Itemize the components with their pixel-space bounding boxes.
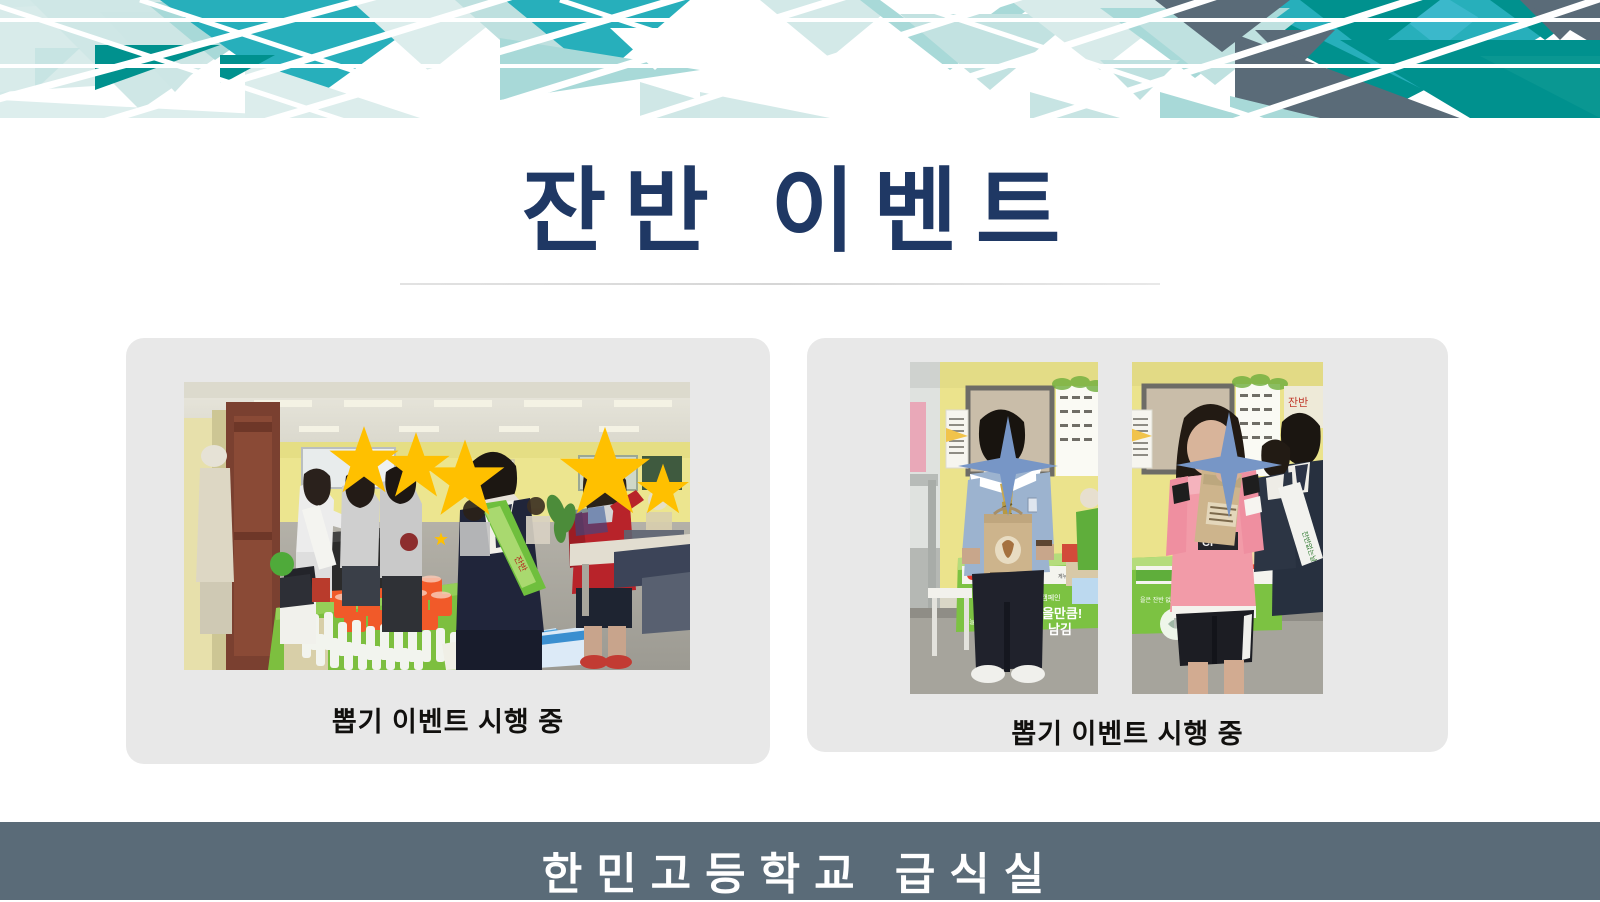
- student-prize-photo-male: 팀물이용계식게누리 는 환경캠페인 먹을만큼! 남김 오늘은 잔: [910, 362, 1098, 694]
- svg-text:잔반: 잔반: [1288, 396, 1308, 409]
- photo-card-left: 잔반: [126, 338, 770, 764]
- triangle-pattern-banner: [0, 0, 1600, 122]
- face-cover-star-blue-2: [1176, 412, 1282, 518]
- card-right-caption: 뽑기 이벤트 시행 중: [807, 712, 1448, 751]
- page-title: 잔반 이벤트: [0, 160, 1600, 264]
- face-cover-star-blue-1: [958, 416, 1058, 516]
- face-cover-star-yellow-5: [636, 462, 690, 516]
- student-prize-photo-female: 잔반 용계식 와 함께하 을은 잔반 없는 날: [1132, 362, 1323, 694]
- footer-bar: 한민고등학교 급식실: [0, 822, 1600, 900]
- svg-text:남김: 남김: [1048, 622, 1072, 637]
- page-title-block: 잔반 이벤트: [0, 160, 1600, 264]
- cafeteria-lottery-event-photo: 잔반: [184, 382, 690, 670]
- student-scene-male: 팀물이용계식게누리 는 환경캠페인 먹을만큼! 남김 오늘은 잔: [910, 362, 1098, 694]
- photo-card-right: 팀물이용계식게누리 는 환경캠페인 먹을만큼! 남김 오늘은 잔: [807, 338, 1448, 752]
- card-left-caption: 뽑기 이벤트 시행 중: [126, 700, 770, 739]
- face-cover-star-yellow-6: [434, 532, 448, 546]
- title-divider: [400, 283, 1160, 285]
- banner-triangles: [0, 0, 1600, 122]
- face-cover-star-yellow-3: [424, 437, 506, 519]
- footer-label: 한민고등학교 급식실: [0, 838, 1600, 902]
